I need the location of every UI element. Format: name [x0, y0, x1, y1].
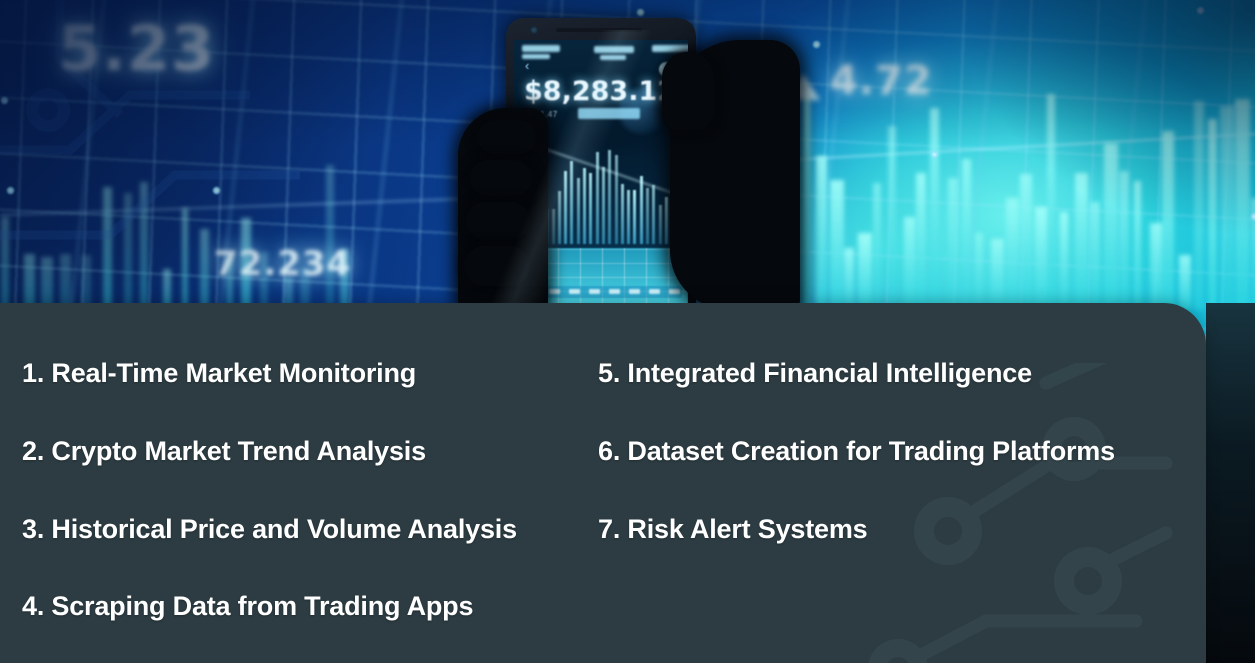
list-item-4[interactable]: 4. Scraping Data from Trading Apps [22, 591, 473, 622]
features-list: 1. Real-Time Market Monitoring 2. Crypto… [0, 303, 1206, 663]
finger-3 [466, 202, 530, 240]
finger-2 [470, 160, 532, 196]
list-item-2[interactable]: 2. Crypto Market Trend Analysis [22, 436, 426, 467]
finger-4 [464, 246, 530, 286]
hand-silhouette [440, 0, 800, 310]
list-item-3[interactable]: 3. Historical Price and Volume Analysis [22, 514, 517, 545]
finger-1 [478, 120, 536, 154]
features-panel: 1. Real-Time Market Monitoring 2. Crypto… [0, 303, 1206, 663]
bottom-right-backdrop [1206, 303, 1255, 663]
list-item-5[interactable]: 5. Integrated Financial Intelligence [598, 358, 1032, 389]
hand-holding-phone: ‹ $8,283.12 +241.47 [440, 0, 800, 310]
list-item-1[interactable]: 1. Real-Time Market Monitoring [22, 358, 416, 389]
thumb-tip [662, 52, 714, 130]
list-item-7[interactable]: 7. Risk Alert Systems [598, 514, 867, 545]
list-item-6[interactable]: 6. Dataset Creation for Trading Platform… [598, 436, 1115, 467]
promo-graphic: 5.23 72.234 4.72 ‹ $8,283.12 +241.47 [0, 0, 1255, 663]
